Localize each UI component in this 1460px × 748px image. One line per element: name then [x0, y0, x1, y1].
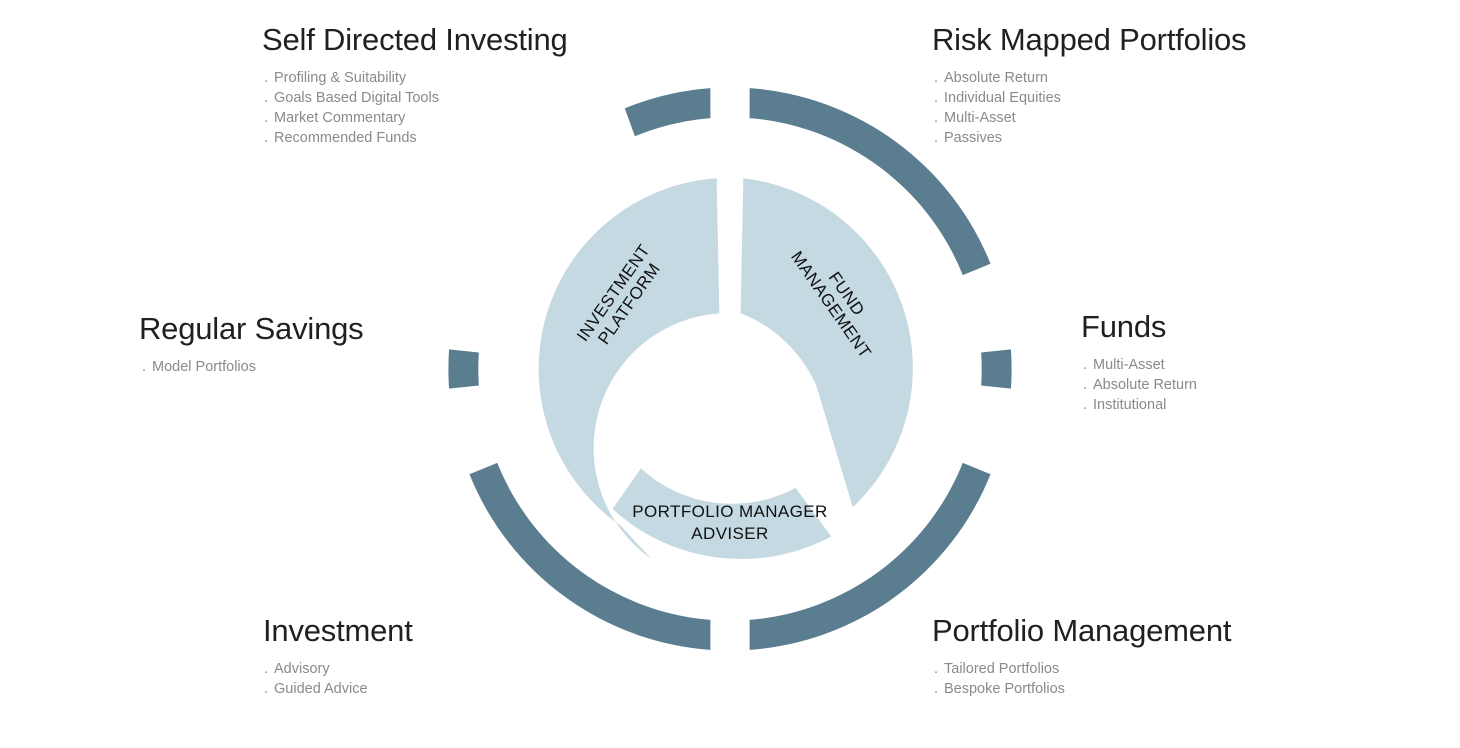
- block-risk-mapped-portfolios: Risk Mapped Portfolios .Absolute Return …: [932, 24, 1246, 148]
- bullet-text: Passives: [944, 130, 1002, 146]
- bullet-marker: .: [264, 108, 274, 128]
- heading-portfolio-management: Portfolio Management: [932, 615, 1231, 648]
- heading-funds: Funds: [1081, 311, 1197, 344]
- list-item: .Tailored Portfolios: [934, 659, 1231, 679]
- heading-investment: Investment: [263, 615, 413, 648]
- bullet-text: Individual Equities: [944, 90, 1061, 106]
- list-item: .Bespoke Portfolios: [934, 679, 1231, 699]
- bullet-marker: .: [934, 68, 944, 88]
- bullet-text: Institutional: [1093, 397, 1166, 413]
- wheel-svg: INVESTMENT PLATFORM FUND MANAGEMENT PORT…: [430, 69, 1030, 669]
- bullet-list-portfolio-management: .Tailored Portfolios .Bespoke Portfolios: [934, 659, 1231, 699]
- investment-proposition-wheel: INVESTMENT PLATFORM FUND MANAGEMENT PORT…: [430, 69, 1030, 669]
- heading-self-directed-investing: Self Directed Investing: [262, 24, 568, 57]
- bullet-marker: .: [934, 88, 944, 108]
- list-item: .Multi-Asset: [1083, 355, 1197, 375]
- inner-segment-fund-management: [741, 178, 913, 507]
- label-portfolio-manager-adviser-line2: ADVISER: [691, 524, 768, 543]
- outer-segment-regular-savings: [448, 349, 478, 388]
- bullet-text: Advisory: [274, 661, 330, 677]
- bullet-text: Goals Based Digital Tools: [274, 90, 439, 106]
- bullet-text: Profiling & Suitability: [274, 70, 406, 86]
- bullet-marker: .: [264, 659, 274, 679]
- bullet-marker: .: [1083, 375, 1093, 395]
- bullet-marker: .: [142, 357, 152, 377]
- list-item: .Absolute Return: [934, 68, 1246, 88]
- bullet-text: Multi-Asset: [944, 110, 1016, 126]
- outer-segment-funds: [981, 349, 1011, 388]
- list-item: .Individual Equities: [934, 88, 1246, 108]
- bullet-text: Multi-Asset: [1093, 357, 1165, 373]
- outer-ring-group: [448, 88, 1011, 650]
- list-item: .Advisory: [264, 659, 413, 679]
- label-portfolio-manager-adviser-line1: PORTFOLIO MANAGER: [632, 502, 827, 521]
- bullet-marker: .: [934, 659, 944, 679]
- list-item: .Multi-Asset: [934, 108, 1246, 128]
- block-portfolio-management: Portfolio Management .Tailored Portfolio…: [932, 615, 1231, 699]
- bullet-marker: .: [1083, 395, 1093, 415]
- bullet-marker: .: [264, 128, 274, 148]
- bullet-text: Absolute Return: [1093, 377, 1197, 393]
- list-item: .Model Portfolios: [142, 357, 363, 377]
- bullet-marker: .: [1083, 355, 1093, 375]
- list-item: .Recommended Funds: [264, 128, 568, 148]
- list-item: .Guided Advice: [264, 679, 413, 699]
- list-item: .Passives: [934, 128, 1246, 148]
- bullet-marker: .: [264, 68, 274, 88]
- list-item: .Market Commentary: [264, 108, 568, 128]
- block-investment: Investment .Advisory .Guided Advice: [263, 615, 413, 699]
- block-self-directed-investing: Self Directed Investing .Profiling & Sui…: [262, 24, 568, 148]
- bullet-text: Recommended Funds: [274, 130, 417, 146]
- list-item: .Absolute Return: [1083, 375, 1197, 395]
- bullet-marker: .: [934, 128, 944, 148]
- bullet-marker: .: [934, 679, 944, 699]
- list-item: .Profiling & Suitability: [264, 68, 568, 88]
- bullet-marker: .: [264, 679, 274, 699]
- bullet-list-investment: .Advisory .Guided Advice: [264, 659, 413, 699]
- heading-regular-savings: Regular Savings: [139, 313, 363, 346]
- bullet-marker: .: [934, 108, 944, 128]
- bullet-text: Model Portfolios: [152, 359, 256, 375]
- bullet-text: Tailored Portfolios: [944, 661, 1059, 677]
- list-item: .Institutional: [1083, 395, 1197, 415]
- list-item: .Goals Based Digital Tools: [264, 88, 568, 108]
- bullet-text: Absolute Return: [944, 70, 1048, 86]
- block-funds: Funds .Multi-Asset .Absolute Return .Ins…: [1081, 311, 1197, 415]
- bullet-list-funds: .Multi-Asset .Absolute Return .Instituti…: [1083, 355, 1197, 415]
- bullet-text: Market Commentary: [274, 110, 405, 126]
- bullet-list-risk-mapped-portfolios: .Absolute Return .Individual Equities .M…: [934, 68, 1246, 148]
- bullet-text: Guided Advice: [274, 681, 368, 697]
- heading-risk-mapped-portfolios: Risk Mapped Portfolios: [932, 24, 1246, 57]
- bullet-marker: .: [264, 88, 274, 108]
- bullet-text: Bespoke Portfolios: [944, 681, 1065, 697]
- block-regular-savings: Regular Savings .Model Portfolios: [139, 313, 363, 377]
- bullet-list-regular-savings: .Model Portfolios: [142, 357, 363, 377]
- bullet-list-self-directed-investing: .Profiling & Suitability .Goals Based Di…: [264, 68, 568, 148]
- outer-segment-self-directed: [625, 88, 711, 136]
